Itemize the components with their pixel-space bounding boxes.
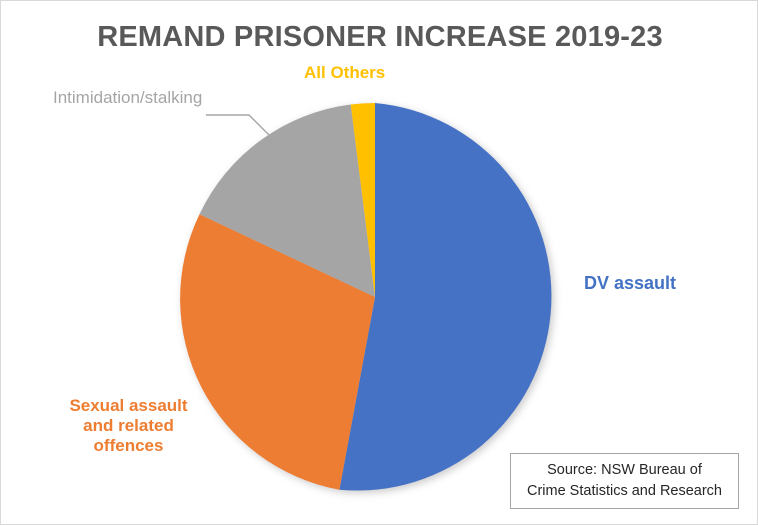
pie-label-dv-assault: DV assault [584, 273, 676, 294]
leader-line-intimidation [206, 115, 273, 139]
chart-container: REMAND PRISONER INCREASE 2019-23 DV assa… [0, 0, 758, 525]
pie-label-sexual-assault: Sexual assault and related offences [56, 396, 201, 456]
source-note-line-1: Source: NSW Bureau of [547, 462, 702, 478]
source-note-line-2: Crime Statistics and Research [527, 483, 722, 499]
source-note-text: Source: NSW Bureau of Crime Statistics a… [527, 460, 722, 502]
pie-label-all-others: All Others [304, 63, 385, 83]
pie-slice-group [180, 103, 551, 491]
pie-label-intimidation-stalking: Intimidation/stalking [53, 88, 202, 108]
source-note-box: Source: NSW Bureau of Crime Statistics a… [510, 453, 739, 509]
